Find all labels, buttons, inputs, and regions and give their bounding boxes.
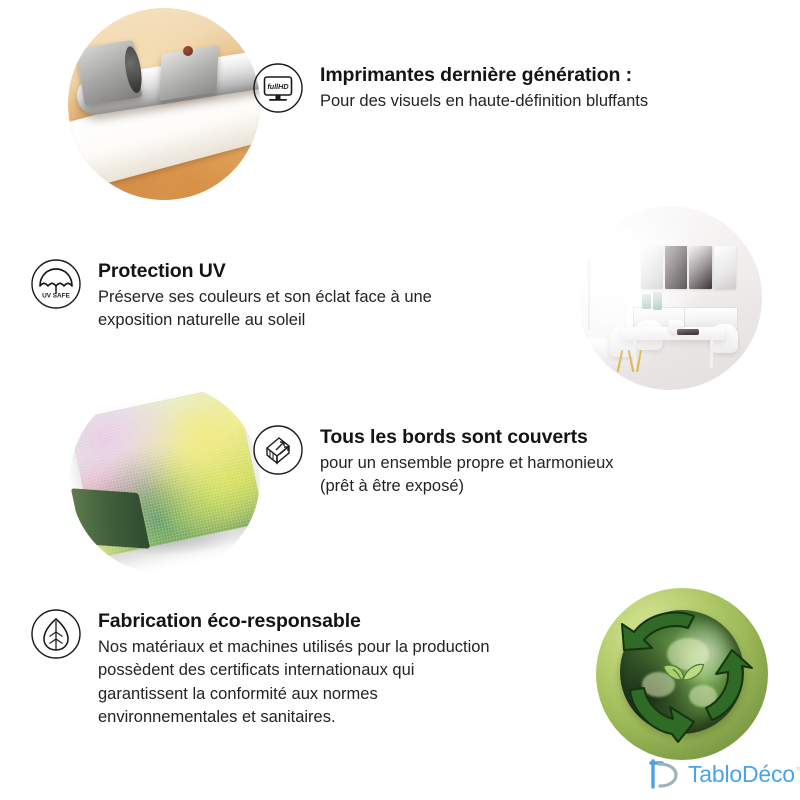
photo-eco-globe (596, 588, 768, 760)
feature-title: Fabrication éco-responsable (98, 610, 490, 633)
photo-interior-room (578, 206, 762, 390)
feature-description: Pour des visuels en haute-définition blu… (320, 90, 648, 113)
feature-description: pour un ensemble propre et harmonieux (p… (320, 452, 614, 499)
brand-wordmark: TabloDéco™.fr (688, 763, 800, 786)
photo-canvas-corner (70, 384, 260, 574)
photo-printer-roller (68, 8, 260, 200)
feature-title: Tous les bords sont couverts (320, 426, 614, 449)
feature-printers: fullHD Imprimantes dernière génération :… (252, 62, 648, 114)
feature-covered-edges: Tous les bords sont couverts pour un ens… (252, 424, 614, 499)
feature-title: Protection UV (98, 260, 432, 283)
svg-text:UV SAFE: UV SAFE (42, 293, 70, 300)
feature-eco-manufacturing: Fabrication éco-responsable Nos matériau… (30, 608, 490, 730)
feature-texts: Tous les bords sont couverts pour un ens… (320, 424, 614, 499)
feature-description: Nos matériaux et machines utilisés pour … (98, 636, 490, 730)
tablodeco-d-mark-icon (648, 757, 682, 791)
feature-title: Imprimantes dernière génération : (320, 64, 648, 87)
feature-description: Préserve ses couleurs et son éclat face … (98, 286, 432, 333)
svg-text:fullHD: fullHD (267, 82, 288, 91)
feature-uv-protection: UV SAFE Protection UV Préserve ses coule… (30, 258, 432, 333)
feature-texts: Imprimantes dernière génération : Pour d… (320, 62, 648, 113)
brand-logo[interactable]: TabloDéco™.fr (648, 757, 800, 791)
uv-safe-umbrella-icon: UV SAFE (30, 258, 82, 310)
feature-texts: Fabrication éco-responsable Nos matériau… (98, 608, 490, 730)
leaf-icon (30, 608, 82, 660)
infographic-page: fullHD Imprimantes dernière génération :… (0, 0, 800, 800)
wrapped-edges-icon (252, 424, 304, 476)
fullhd-monitor-icon: fullHD (252, 62, 304, 114)
feature-texts: Protection UV Préserve ses couleurs et s… (98, 258, 432, 333)
